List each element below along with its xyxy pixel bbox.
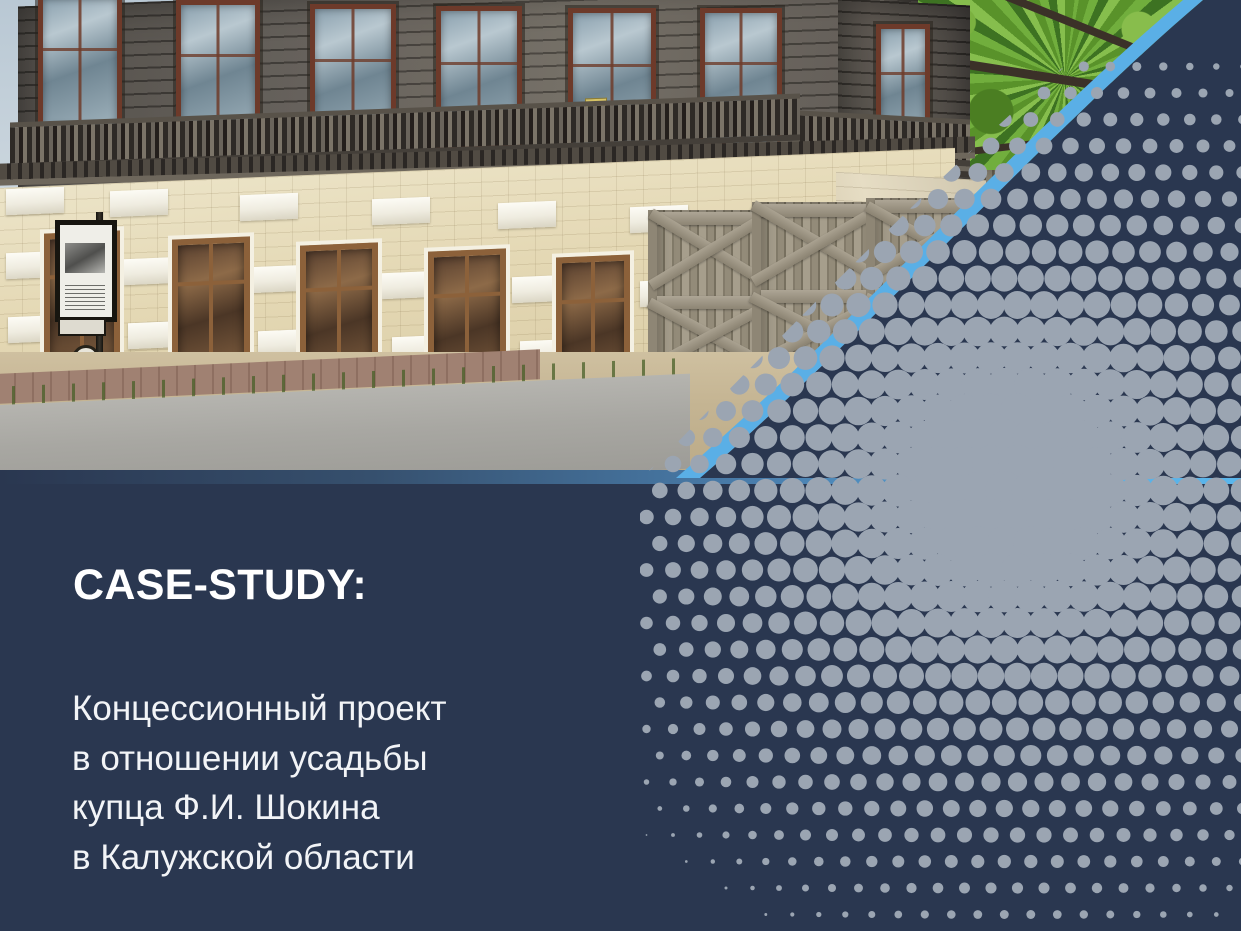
- page-subtitle: Концессионный проект в отношении усадьбы…: [72, 684, 447, 883]
- page-title: CASE-STUDY:: [73, 562, 367, 609]
- information-sign: [55, 220, 117, 322]
- halftone-dot-pattern: [640, 60, 1241, 931]
- quoin-stone: [110, 189, 168, 217]
- quoin-stone: [498, 201, 556, 229]
- upper-window: [38, 0, 122, 132]
- quoin-stone: [372, 197, 430, 225]
- slide-canvas: CASE-STUDY: Концессионный проект в отнош…: [0, 0, 1241, 931]
- street-name-sign: [58, 318, 106, 336]
- quoin-stone: [240, 193, 298, 221]
- quoin-stone: [6, 187, 64, 215]
